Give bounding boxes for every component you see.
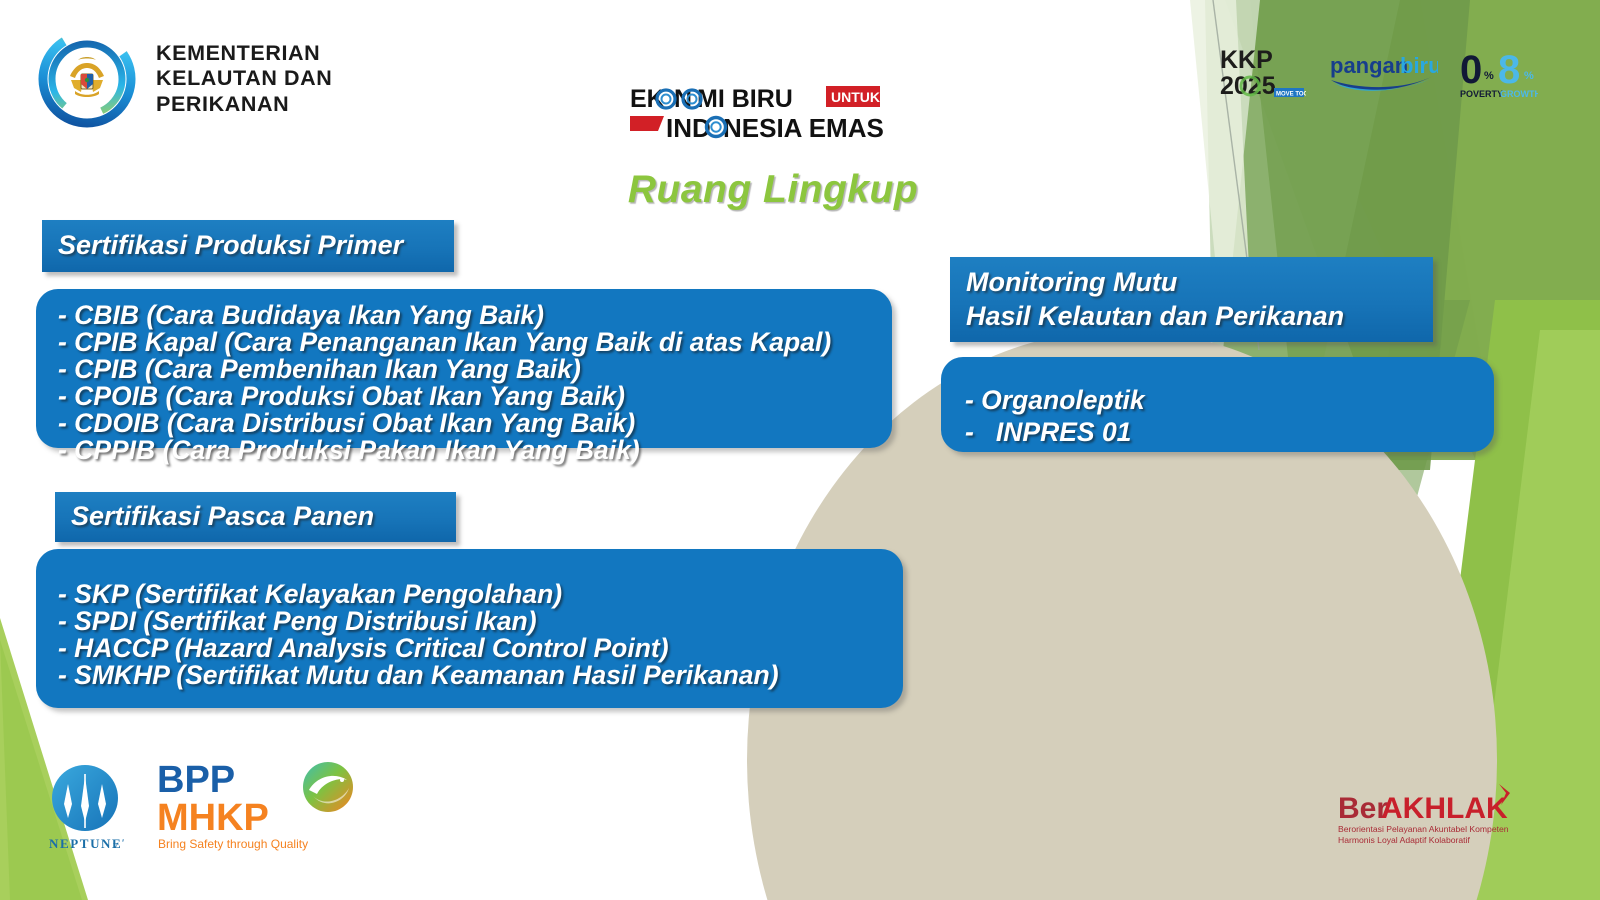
section-header-monitoring-mutu: Monitoring Mutu Hasil Kelautan dan Perik… bbox=[950, 257, 1433, 342]
section-list-sertifikasi-pasca-panen: - SKP (Sertifikat Kelayakan Pengolahan) … bbox=[36, 549, 903, 708]
bpp-mhkp-tagline: Bring Safety through Quality bbox=[158, 837, 308, 851]
untuk-badge: UNTUK bbox=[831, 89, 880, 105]
ministry-logo: KEMENTERIAN KELAUTAN DAN PERIKANAN bbox=[36, 28, 332, 130]
indonesia-text-b: NESIA EMAS bbox=[723, 113, 884, 142]
panganbiru-logo: pangan biru bbox=[1328, 49, 1438, 102]
neptune-tv-text-b: v bbox=[113, 840, 118, 851]
eight-number: 8 bbox=[1498, 48, 1520, 92]
section-header-text: Sertifikasi Produksi Primer bbox=[58, 229, 403, 262]
list-item: - CPPIB (Cara Produksi Pakan Ikan Yang B… bbox=[58, 437, 892, 464]
bpp-mhkp-logo: BPP MHKP Bring Safety through Quality bbox=[155, 752, 355, 857]
ekonomi-biru-logo: EK N MI BIRU UNTUK IND NESIA EMAS bbox=[630, 86, 940, 142]
berakhlak-logo: Ber AKHLAK Berorientasi Pelayanan Akunta… bbox=[1336, 778, 1526, 848]
zero-percent: % bbox=[1484, 70, 1494, 82]
neptune-tv-logo: NEPTUNET v bbox=[46, 760, 124, 855]
list-item: - CPOIB (Cara Produksi Obat Ikan Yang Ba… bbox=[58, 383, 892, 410]
section-list-sertifikasi-produksi-primer: - CBIB (Cara Budidaya Ikan Yang Baik) - … bbox=[36, 289, 892, 448]
growth-label: GROWTH bbox=[1500, 89, 1538, 99]
list-item: - HACCP (Hazard Analysis Critical Contro… bbox=[58, 635, 903, 662]
list-item: - Organoleptik bbox=[965, 385, 1494, 417]
berakhlak-word-b: AKHLAK bbox=[1381, 792, 1508, 825]
section-header-text: Sertifikasi Pasca Panen bbox=[71, 500, 374, 533]
section-list-monitoring-mutu: - Organoleptik - INPRES 01 bbox=[941, 357, 1494, 452]
poverty-label: POVERTY bbox=[1460, 89, 1503, 99]
list-item: - CDOIB (Cara Distribusi Obat Ikan Yang … bbox=[58, 410, 892, 437]
list-item: - SMKHP (Sertifikat Mutu dan Keamanan Ha… bbox=[58, 662, 903, 689]
section-header-sertifikasi-pasca-panen: Sertifikasi Pasca Panen bbox=[55, 492, 456, 542]
kkp-2025-line1: KKP bbox=[1220, 46, 1273, 74]
list-item: - SPDI (Sertifikat Peng Distribusi Ikan) bbox=[58, 608, 903, 635]
panganbiru-word-b: biru bbox=[1400, 53, 1438, 78]
slide-root: KEMENTERIAN KELAUTAN DAN PERIKANAN EK N … bbox=[0, 0, 1600, 900]
top-logo-group: KKP 2025 MOVE TOGETHER pangan biru 0 % 8… bbox=[1218, 44, 1538, 107]
nol-delapan-logo: 0 % 8 % POVERTY GROWTH bbox=[1460, 45, 1538, 106]
bpp-text: BPP bbox=[157, 759, 235, 801]
page-title: Ruang Lingkup bbox=[0, 168, 1546, 212]
kkp-2025-logo: KKP 2025 MOVE TOGETHER bbox=[1218, 44, 1306, 107]
zero-number: 0 bbox=[1460, 48, 1482, 92]
list-item: - CPIB Kapal (Cara Penanganan Ikan Yang … bbox=[58, 329, 892, 356]
section-header-sertifikasi-produksi-primer: Sertifikasi Produksi Primer bbox=[42, 220, 454, 272]
section-header-text: Monitoring Mutu Hasil Kelautan dan Perik… bbox=[966, 266, 1344, 333]
kkp-2025-tag: MOVE TOGETHER bbox=[1276, 92, 1306, 98]
ekonomi-text-a: EK bbox=[630, 86, 665, 113]
berakhlak-tagline-2: Harmonis Loyal Adaptif Kolaboratif bbox=[1338, 835, 1470, 845]
mhkp-text: MHKP bbox=[157, 797, 269, 839]
ministry-name: KEMENTERIAN KELAUTAN DAN PERIKANAN bbox=[156, 41, 332, 116]
ekonomi-text-c: MI BIRU bbox=[697, 86, 793, 113]
list-item: - CBIB (Cara Budidaya Ikan Yang Baik) bbox=[58, 302, 892, 329]
list-item: - INPRES 01 bbox=[965, 417, 1494, 449]
eight-percent: % bbox=[1524, 70, 1534, 82]
berakhlak-tagline-1: Berorientasi Pelayanan Akuntabel Kompete… bbox=[1338, 824, 1509, 834]
kkp-emblem-icon bbox=[36, 28, 138, 130]
indonesia-text-a: IND bbox=[666, 113, 711, 142]
list-item: - SKP (Sertifikat Kelayakan Pengolahan) bbox=[58, 581, 903, 608]
panganbiru-word-a: pangan bbox=[1330, 53, 1408, 78]
list-item: - CPIB (Cara Pembenihan Ikan Yang Baik) bbox=[58, 356, 892, 383]
